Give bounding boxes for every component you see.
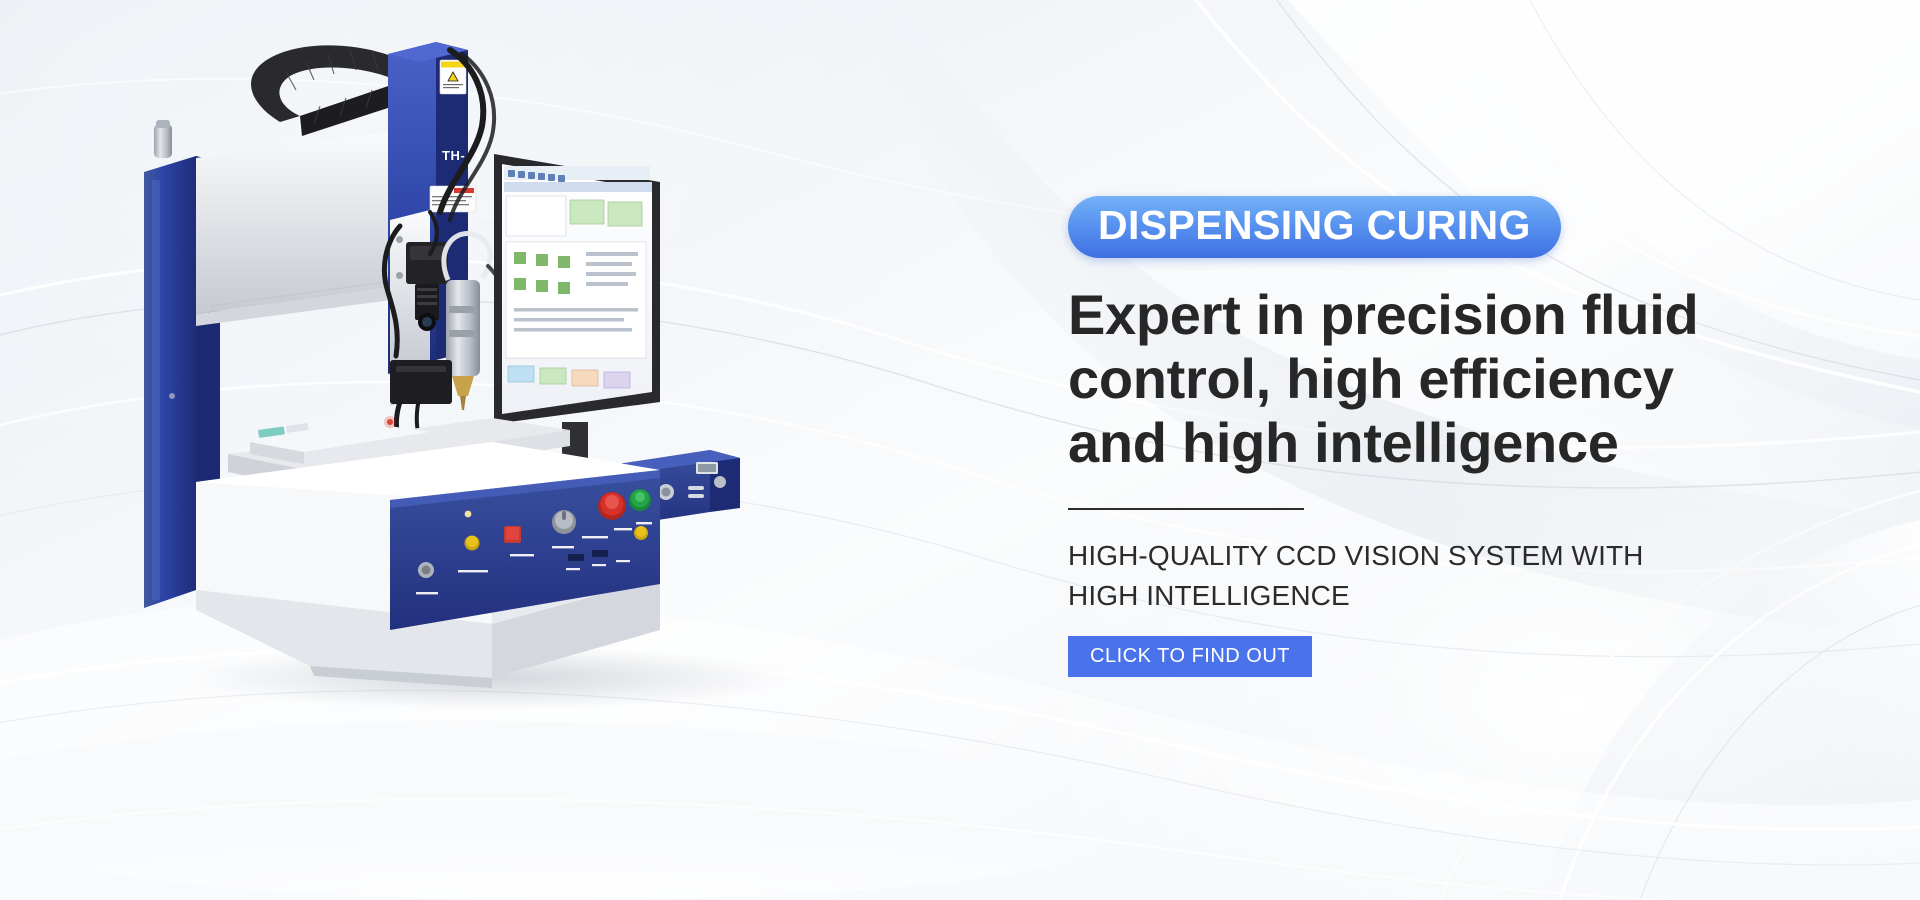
product-image: TH-AY (100, 30, 860, 730)
panel-indicator-yellow-left (465, 536, 480, 551)
subtitle-line-2: HIGH INTELLIGENCE (1068, 576, 1848, 616)
tool-mount-block (390, 360, 452, 404)
panel-indicator-small (465, 511, 472, 518)
panel-button-pressure-square[interactable] (504, 526, 521, 543)
headline-line-3: and high intelligence (1068, 411, 1788, 475)
panel-indicator-yellow-right (634, 526, 648, 540)
banner-subtitle: HIGH-QUALITY CCD VISION SYSTEM WITH HIGH… (1068, 536, 1848, 616)
headline-line-2: control, high efficiency (1068, 347, 1788, 411)
dispensing-robot-illustration: TH-AY (100, 30, 860, 730)
title-divider (1068, 508, 1304, 510)
panel-knob-gray[interactable] (552, 510, 576, 534)
click-to-find-out-button[interactable]: CLICK TO FIND OUT (1068, 636, 1312, 677)
headline-line-1: Expert in precision fluid (1068, 283, 1788, 347)
cable-drag-chain (251, 45, 400, 136)
panel-connector-left (418, 562, 434, 578)
warning-label (440, 60, 466, 94)
panel-button-estop[interactable] (598, 492, 626, 520)
subtitle-line-1: HIGH-QUALITY CCD VISION SYSTEM WITH (1068, 536, 1848, 576)
banner-content: DISPENSING CURING Expert in precision fl… (1068, 196, 1848, 677)
machine-brand-label: TH-AY (442, 148, 483, 163)
page-title: Expert in precision fluid control, high … (1068, 283, 1788, 474)
banner-stage: TH-AY (0, 0, 1920, 900)
panel-button-start-green[interactable] (629, 489, 651, 511)
category-badge: DISPENSING CURING (1068, 196, 1561, 258)
